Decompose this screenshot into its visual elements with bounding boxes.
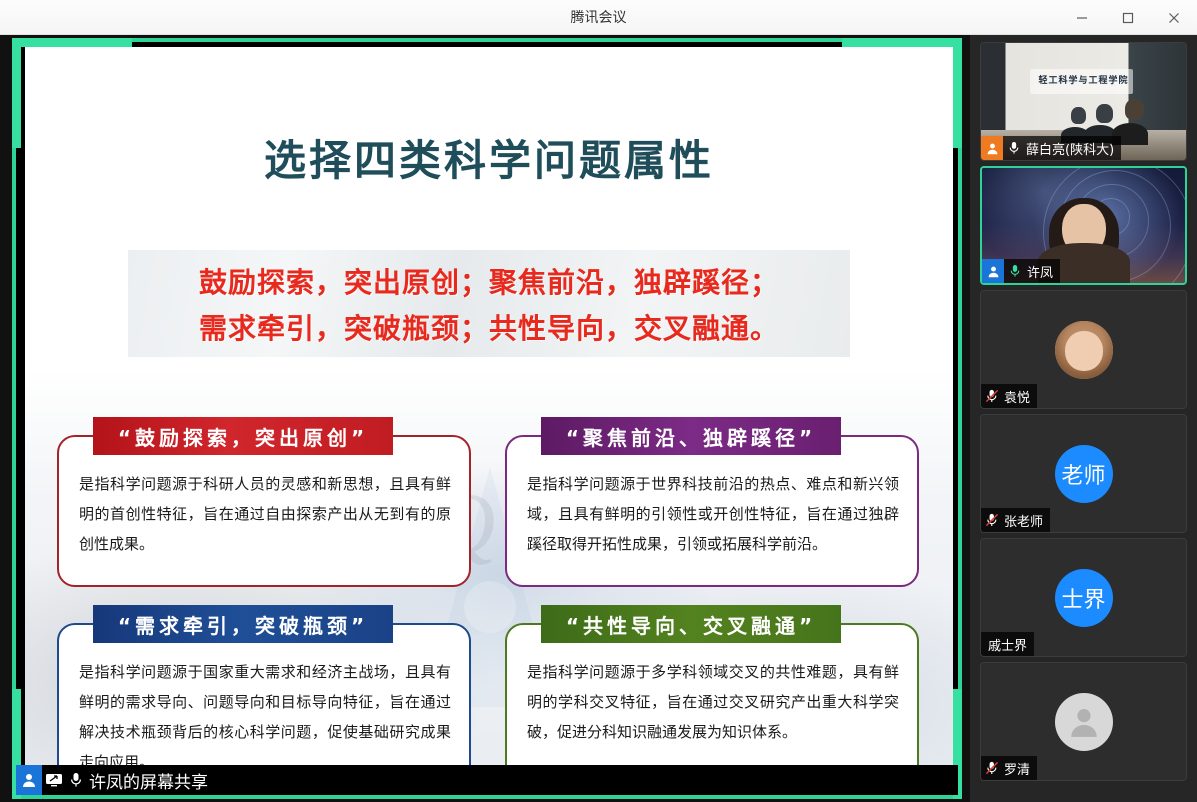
participant-tile[interactable]: 袁悦 — [980, 290, 1187, 409]
avatar: 士界 — [1055, 569, 1113, 627]
minimize-button[interactable] — [1059, 0, 1105, 35]
participant-name-strip: 许凤 — [982, 259, 1060, 283]
maximize-button[interactable] — [1105, 0, 1151, 35]
slide-title: 选择四类科学问题属性 — [25, 127, 953, 188]
banner-line-2: 需求牵引，突破瓶颈；共性导向，交叉融通。 — [199, 307, 779, 347]
participant-name: 袁悦 — [1004, 387, 1030, 406]
participant-name-strip: 张老师 — [981, 508, 1050, 532]
participant-name: 薛白亮(陕科大) — [1026, 139, 1114, 158]
microphone-muted-icon — [981, 508, 1002, 532]
microphone-icon — [66, 765, 86, 795]
share-status-text: 许凤的屏幕共享 — [89, 768, 208, 793]
close-button[interactable] — [1151, 0, 1197, 35]
card-body-text: 是指科学问题源于世界科技前沿的热点、难点和新兴领域，且具有鲜明的引领性或开创性特… — [527, 469, 899, 559]
participant-name: 罗清 — [1004, 759, 1030, 778]
avatar: 老师 — [1055, 445, 1113, 503]
card-body-text: 是指科学问题源于科研人员的灵感和新思想，且具有鲜明的首创性特征，旨在通过自由探索… — [79, 469, 451, 559]
microphone-icon — [1003, 136, 1024, 160]
banner-line-1: 鼓励探索，突出原创；聚焦前沿，独辟蹊径； — [199, 261, 779, 301]
microphone-muted-icon — [981, 756, 1002, 780]
attribute-card-frontier-focus: “聚焦前沿、独辟蹊径” 是指科学问题源于世界科技前沿的热点、难点和新兴领域，且具… — [505, 417, 919, 587]
person-icon — [982, 259, 1004, 283]
participant-tile[interactable]: 老师 张老师 — [980, 414, 1187, 533]
participant-name: 戚士界 — [988, 635, 1027, 654]
participant-tile[interactable]: 罗清 — [980, 662, 1187, 781]
tencent-meeting-window: 腾讯会议 — [0, 0, 1197, 802]
attribute-card-encourage-exploration: “鼓励探索，突出原创” 是指科学问题源于科研人员的灵感和新思想，且具有鲜明的首创… — [57, 417, 471, 587]
window-title: 腾讯会议 — [0, 0, 1197, 35]
card-body-text: 是指科学问题源于国家重大需求和经济主战场，且具有鲜明的需求导向、问题导向和目标导… — [79, 657, 451, 777]
participant-tile[interactable]: 士界 戚士界 — [980, 538, 1187, 657]
screen-share-icon — [42, 765, 66, 795]
participant-name-strip: 袁悦 — [981, 384, 1037, 408]
participant-tile[interactable]: 许凤 — [980, 166, 1187, 285]
card-heading: “聚焦前沿、独辟蹊径” — [541, 417, 841, 455]
screen-share-region[interactable]: KSFQ 20 选择四类科学问题属性 鼓励探索，突出原创；聚焦前沿，独辟蹊径； … — [0, 35, 970, 802]
avatar — [1055, 693, 1113, 751]
person-icon — [16, 765, 42, 795]
participant-name: 许凤 — [1027, 262, 1053, 281]
slide-banner: 鼓励探索，突出原创；聚焦前沿，独辟蹊径； 需求牵引，突破瓶颈；共性导向，交叉融通… — [128, 250, 850, 357]
participant-name: 张老师 — [1004, 511, 1043, 530]
shared-slide: KSFQ 20 选择四类科学问题属性 鼓励探索，突出原创；聚焦前沿，独辟蹊径； … — [25, 47, 953, 780]
attribute-card-demand-driven: “需求牵引，突破瓶颈” 是指科学问题源于国家重大需求和经济主战场，且具有鲜明的需… — [57, 605, 471, 780]
sharing-corner-right-top — [953, 38, 962, 148]
attribute-card-cross-disciplinary: “共性导向、交叉融通” 是指科学问题源于多学科领域交叉的共性难题，具有鲜明的学科… — [505, 605, 919, 780]
share-status-bar: 许凤的屏幕共享 — [16, 765, 958, 795]
card-heading: “共性导向、交叉融通” — [541, 605, 841, 643]
window-controls — [1059, 0, 1197, 35]
title-bar: 腾讯会议 — [0, 0, 1197, 35]
card-heading: “鼓励探索，突出原创” — [93, 417, 393, 455]
card-body-text: 是指科学问题源于多学科领域交叉的共性难题，具有鲜明的学科交叉特征，旨在通过交叉研… — [527, 657, 899, 747]
sharing-corner-left-top — [12, 38, 21, 148]
sharing-corner-top-left — [12, 38, 132, 47]
microphone-muted-icon — [981, 384, 1002, 408]
participant-tile[interactable]: 轻工科学与工程学院 薛白亮(陕科大) — [980, 42, 1187, 161]
participant-name-strip: 薛白亮(陕科大) — [981, 136, 1121, 160]
card-heading: “需求牵引，突破瓶颈” — [93, 605, 393, 643]
microphone-icon — [1004, 259, 1025, 283]
sharing-corner-top-right — [842, 38, 962, 47]
meeting-body: KSFQ 20 选择四类科学问题属性 鼓励探索，突出原创；聚焦前沿，独辟蹊径； … — [0, 35, 1197, 802]
person-icon — [981, 136, 1003, 160]
participant-name-strip: 戚士界 — [981, 632, 1034, 656]
participant-rail[interactable]: 轻工科学与工程学院 薛白亮(陕科大) — [970, 35, 1197, 802]
avatar — [1055, 321, 1113, 379]
room-banner-text: 轻工科学与工程学院 — [1026, 73, 1141, 86]
participant-name-strip: 罗清 — [981, 756, 1037, 780]
